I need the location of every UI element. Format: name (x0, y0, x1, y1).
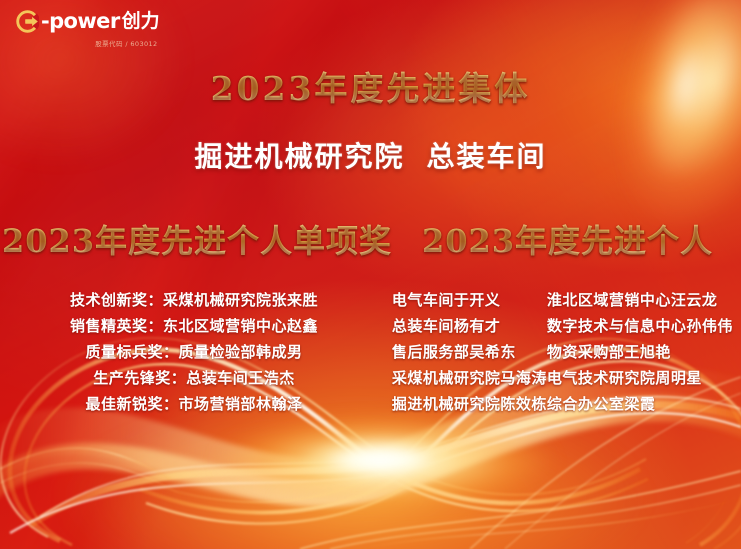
logo-wordmark-cn: 创力 (122, 12, 160, 31)
logo-stock-code: 股票代码 / 603012 (95, 38, 157, 48)
list-item-name-right: 电气技术研究院周明星 (547, 365, 732, 391)
heading-individual-special-awards: 2023年度先进个人单项奖 (0, 216, 394, 262)
collective-winner-1: 掘进机械研究院 (194, 140, 404, 173)
c-power-logo-icon (16, 10, 39, 33)
logo-wordmark: -power (41, 11, 120, 32)
award-lists: 技术创新奖：采煤机械研究院张来胜 销售精英奖：东北区域营销中心赵鑫 质量标兵奖：… (0, 287, 741, 417)
list-item: 总装车间杨有才 数字技术与信息中心孙伟伟 (392, 313, 732, 339)
collective-winner-2: 总装车间 (427, 140, 547, 173)
list-item: 售后服务部吴希东 物资采购部王旭艳 (392, 339, 732, 365)
list-item: 技术创新奖：采煤机械研究院张来胜 (70, 287, 318, 313)
collective-winners: 掘进机械研究院总装车间 (0, 135, 741, 175)
logo-row: -power 创力 (16, 10, 160, 33)
list-item: 采煤机械研究院马海涛 电气技术研究院周明星 (392, 365, 732, 391)
list-item: 电气车间于开义 淮北区域营销中心汪云龙 (392, 287, 732, 313)
section-headings: 2023年度先进个人单项奖 2023年度先进个人 (0, 216, 741, 262)
list-item: 最佳新锐奖：市场营销部林翰泽 (85, 391, 302, 417)
list-item-name-left: 总装车间杨有才 (392, 313, 547, 339)
list-item-name-left: 售后服务部吴希东 (392, 339, 547, 365)
list-item-name-left: 电气车间于开义 (392, 287, 547, 313)
company-logo: -power 创力 股票代码 / 603012 (16, 10, 160, 48)
list-item-name-left: 采煤机械研究院马海涛 (392, 365, 547, 391)
list-item-name-left: 掘进机械研究院陈效栋 (392, 391, 547, 417)
list-item-name-right: 数字技术与信息中心孙伟伟 (547, 313, 732, 339)
list-item: 生产先锋奖：总装车间王浩杰 (93, 365, 295, 391)
heading-advanced-individuals: 2023年度先进个人 (394, 216, 741, 262)
right-award-list: 电气车间于开义 淮北区域营销中心汪云龙 总装车间杨有才 数字技术与信息中心孙伟伟… (388, 287, 741, 417)
left-award-list: 技术创新奖：采煤机械研究院张来胜 销售精英奖：东北区域营销中心赵鑫 质量标兵奖：… (0, 287, 388, 417)
list-item: 掘进机械研究院陈效栋 综合办公室梁霞 (392, 391, 732, 417)
list-item: 销售精英奖：东北区域营销中心赵鑫 (70, 313, 318, 339)
poster-canvas: -power 创力 股票代码 / 603012 2023年度先进集体 掘进机械研… (0, 0, 741, 549)
page-title: 2023年度先进集体 (0, 62, 741, 110)
list-item: 质量标兵奖：质量检验部韩成男 (85, 339, 302, 365)
list-item-name-right: 淮北区域营销中心汪云龙 (547, 287, 732, 313)
list-item-name-right: 物资采购部王旭艳 (547, 339, 732, 365)
list-item-name-right: 综合办公室梁霞 (547, 391, 732, 417)
